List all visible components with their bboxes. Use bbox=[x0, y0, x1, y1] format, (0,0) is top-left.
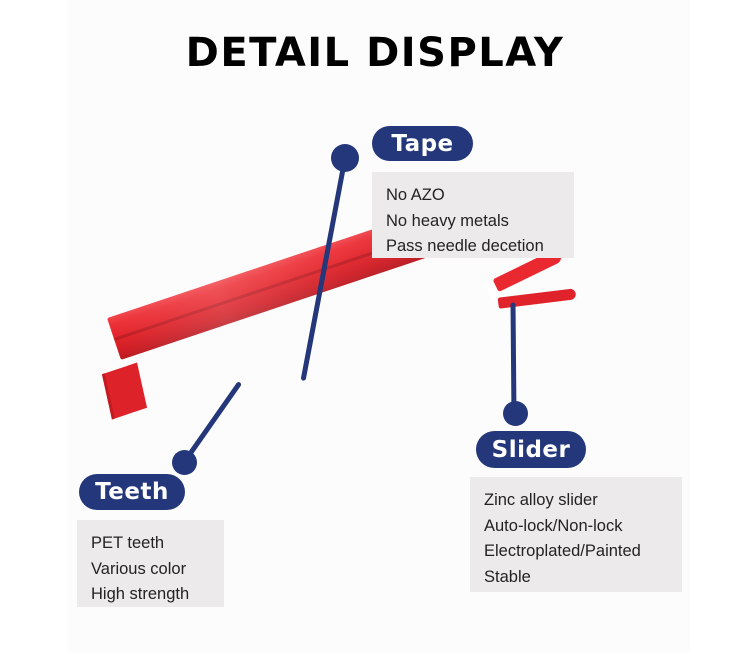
callout-pill-slider: Slider bbox=[476, 431, 586, 468]
callout-slider-line-3: Electroplated/Painted bbox=[484, 539, 668, 565]
callout-tape-line-2: No heavy metals bbox=[386, 209, 560, 235]
callout-pill-teeth-label: Teeth bbox=[95, 479, 169, 505]
callout-teeth-line-1: PET teeth bbox=[91, 531, 210, 557]
callout-box-slider: Zinc alloy slider Auto-lock/Non-lock Ele… bbox=[470, 477, 682, 592]
callout-teeth-line-2: Various color bbox=[91, 557, 210, 583]
callout-pill-slider-label: Slider bbox=[492, 437, 571, 463]
callout-slider-line-1: Zinc alloy slider bbox=[484, 488, 668, 514]
callout-tape-line-1: No AZO bbox=[386, 183, 560, 209]
callout-pill-teeth: Teeth bbox=[79, 474, 185, 510]
teeth-pointer-dot bbox=[172, 450, 197, 475]
callout-pill-tape-label: Tape bbox=[391, 131, 453, 157]
callout-pill-tape: Tape bbox=[372, 126, 473, 161]
zipper-bottom-stop bbox=[102, 363, 147, 420]
callout-slider-line-2: Auto-lock/Non-lock bbox=[484, 514, 668, 540]
callout-tape-line-3: Pass needle decetion bbox=[386, 234, 560, 260]
callout-box-tape: No AZO No heavy metals Pass needle decet… bbox=[372, 172, 574, 258]
page-title: DETAIL DISPLAY bbox=[0, 30, 750, 76]
callout-teeth-line-3: High strength bbox=[91, 582, 210, 608]
callout-slider-line-4: Stable bbox=[484, 565, 668, 591]
callout-box-teeth: PET teeth Various color High strength bbox=[77, 520, 224, 607]
detail-display-banner: DETAIL DISPLAY Tape No AZO No heavy meta… bbox=[0, 0, 750, 653]
slider-pointer-dot bbox=[503, 401, 528, 426]
slider-pointer-line bbox=[511, 302, 517, 415]
